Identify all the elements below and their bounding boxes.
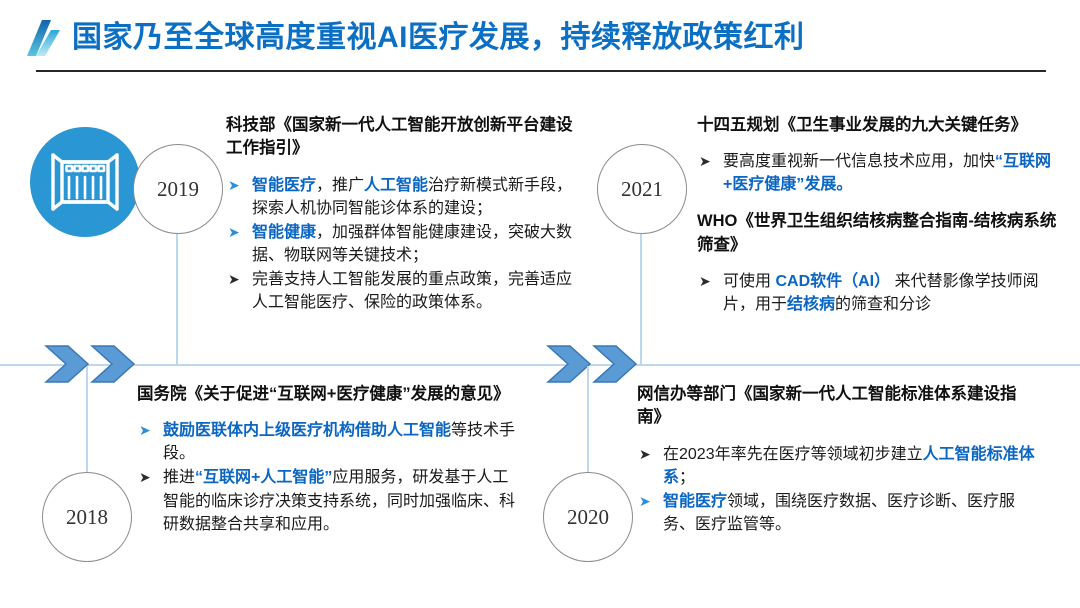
connector-2021 bbox=[640, 232, 642, 365]
body-text: ，推广 bbox=[316, 177, 364, 194]
highlighted-text: 鼓励医联体内上级医疗机构借助人工智能 bbox=[163, 422, 451, 439]
server-rack-icon bbox=[30, 127, 140, 237]
bullet-item: ➤智能医疗领域，围绕医疗数据、医疗诊断、医疗服务、医疗监管等。 bbox=[637, 490, 1037, 536]
timeline-block-2018: 国务院《关于促进“互联网+医疗健康”发展的意见》 ➤鼓励医联体内上级医疗机构借助… bbox=[137, 383, 519, 537]
bullet-item: ➤可使用 CAD软件（AI） 来代替影像学技师阅片，用于结核病的筛查和分诊 bbox=[697, 270, 1057, 316]
page-title: 国家乃至全球高度重视AI医疗发展，持续释放政策红利 bbox=[72, 16, 805, 60]
connector-2018 bbox=[86, 366, 88, 473]
body-text: 完善支持人工智能发展的重点政策，完善适应人工智能医疗、保险的政策体系。 bbox=[252, 271, 572, 311]
bullet-arrow-icon: ➤ bbox=[228, 268, 240, 290]
body-text: 在2023年率先在医疗等领域初步建立 bbox=[663, 446, 923, 463]
highlighted-text: 智能医疗 bbox=[252, 177, 316, 194]
year-node-2021[interactable]: 2021 bbox=[597, 144, 687, 234]
bullet-list: ➤要高度重视新一代信息技术应用，加快“互联网+医疗健康”发展。 bbox=[697, 150, 1057, 196]
body-text: 的筛查和分诊 bbox=[835, 296, 931, 313]
title-divider bbox=[36, 70, 1046, 72]
chevron-right-icon bbox=[546, 344, 592, 384]
highlighted-text: “互联网+人工智能” bbox=[195, 469, 332, 486]
chevron-right-icon bbox=[592, 344, 638, 384]
page-header: 国家乃至全球高度重视AI医疗发展，持续释放政策红利 bbox=[0, 0, 1080, 76]
year-node-2018[interactable]: 2018 bbox=[42, 472, 132, 562]
bullet-item: ➤鼓励医联体内上级医疗机构借助人工智能等技术手段。 bbox=[137, 419, 519, 465]
chevron-right-icon bbox=[44, 344, 90, 384]
highlighted-text: 结核病 bbox=[787, 296, 835, 313]
bullet-arrow-icon: ➤ bbox=[139, 466, 151, 488]
timeline-axis bbox=[0, 364, 1080, 366]
year-node-2019[interactable]: 2019 bbox=[133, 144, 223, 234]
bullet-item: ➤推进“互联网+人工智能”应用服务，研发基于人工智能的临床诊疗决策支持系统，同时… bbox=[137, 466, 519, 535]
bullet-arrow-icon: ➤ bbox=[639, 490, 651, 512]
body-text: 可使用 bbox=[723, 273, 775, 290]
bullet-item: ➤完善支持人工智能发展的重点政策，完善适应人工智能医疗、保险的政策体系。 bbox=[226, 268, 578, 314]
highlighted-text: 智能健康 bbox=[252, 224, 316, 241]
timeline-block-2019: 科技部《国家新一代人工智能开放创新平台建设工作指引》 ➤智能医疗，推广人工智能治… bbox=[226, 114, 578, 315]
highlighted-text: CAD软件（AI） bbox=[775, 273, 890, 290]
bullet-list: ➤在2023年率先在医疗等领域初步建立人工智能标准体系；➤智能医疗领域，围绕医疗… bbox=[637, 443, 1037, 536]
year-node-2020[interactable]: 2020 bbox=[543, 472, 633, 562]
block-heading: 网信办等部门《国家新一代人工智能标准体系建设指南》 bbox=[637, 383, 1037, 430]
bullet-item: ➤要高度重视新一代信息技术应用，加快“互联网+医疗健康”发展。 bbox=[697, 150, 1057, 196]
double-slash-logo-icon bbox=[18, 16, 64, 60]
block-heading: 国务院《关于促进“互联网+医疗健康”发展的意见》 bbox=[137, 383, 519, 406]
bullet-arrow-icon: ➤ bbox=[228, 174, 240, 196]
bullet-arrow-icon: ➤ bbox=[228, 221, 240, 243]
chevron-right-icon bbox=[90, 344, 136, 384]
bullet-arrow-icon: ➤ bbox=[639, 443, 651, 465]
body-text: 要高度重视新一代信息技术应用，加快 bbox=[723, 153, 995, 170]
bullet-arrow-icon: ➤ bbox=[699, 150, 711, 172]
highlighted-text: 人工智能 bbox=[364, 177, 428, 194]
body-text: ； bbox=[679, 469, 695, 486]
block-heading: 十四五规划《卫生事业发展的九大关键任务》 bbox=[697, 114, 1057, 137]
bullet-list: ➤鼓励医联体内上级医疗机构借助人工智能等技术手段。➤推进“互联网+人工智能”应用… bbox=[137, 419, 519, 535]
connector-2020 bbox=[587, 366, 589, 473]
bullet-list: ➤智能医疗，推广人工智能治疗新模式新手段，探索人机协同智能诊体系的建设；➤智能健… bbox=[226, 174, 578, 314]
bullet-item: ➤在2023年率先在医疗等领域初步建立人工智能标准体系； bbox=[637, 443, 1037, 489]
bullet-item: ➤智能医疗，推广人工智能治疗新模式新手段，探索人机协同智能诊体系的建设； bbox=[226, 174, 578, 220]
body-text: 推进 bbox=[163, 469, 195, 486]
block-heading-secondary: WHO《世界卫生组织结核病整合指南-结核病系统筛查》 bbox=[697, 210, 1057, 257]
bullet-list-secondary: ➤可使用 CAD软件（AI） 来代替影像学技师阅片，用于结核病的筛查和分诊 bbox=[697, 270, 1057, 316]
timeline-block-2021: 十四五规划《卫生事业发展的九大关键任务》 ➤要高度重视新一代信息技术应用，加快“… bbox=[697, 114, 1057, 317]
connector-2019 bbox=[176, 232, 178, 365]
highlighted-text: 智能医疗 bbox=[663, 493, 727, 510]
bullet-arrow-icon: ➤ bbox=[699, 270, 711, 292]
block-heading: 科技部《国家新一代人工智能开放创新平台建设工作指引》 bbox=[226, 114, 578, 161]
bullet-item: ➤智能健康，加强群体智能健康建设，突破大数据、物联网等关键技术； bbox=[226, 221, 578, 267]
bullet-arrow-icon: ➤ bbox=[139, 419, 151, 441]
timeline-block-2020: 网信办等部门《国家新一代人工智能标准体系建设指南》 ➤在2023年率先在医疗等领… bbox=[637, 383, 1037, 537]
